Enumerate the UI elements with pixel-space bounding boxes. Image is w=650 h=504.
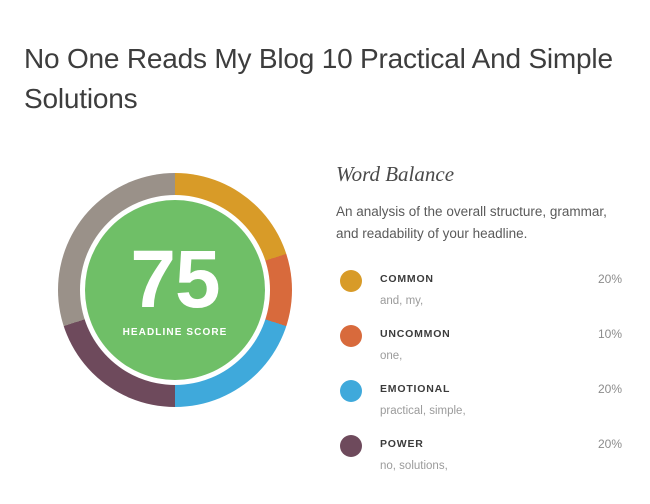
legend-percent-value: 20% — [598, 272, 622, 286]
legend-item-uncommon[interactable]: UNCOMMONone,10% — [336, 320, 626, 375]
score-center-circle: 75 HEADLINE SCORE — [85, 200, 265, 380]
legend-category-label: POWER — [380, 438, 424, 450]
legend-color-dot-icon — [340, 435, 362, 457]
headline-score-donut-chart: 75 HEADLINE SCORE — [58, 173, 292, 407]
legend-category-label: COMMON — [380, 273, 434, 285]
legend-color-dot-icon — [340, 325, 362, 347]
legend-category-label: UNCOMMON — [380, 328, 451, 340]
legend-item-power[interactable]: POWERno, solutions,20% — [336, 430, 626, 485]
legend-item-common[interactable]: COMMONand, my,20% — [336, 265, 626, 320]
legend-color-dot-icon — [340, 380, 362, 402]
panel-title: Word Balance — [336, 162, 626, 187]
legend-matched-words: practical, simple, — [380, 405, 466, 417]
legend-matched-words: and, my, — [380, 295, 423, 307]
panel-description: An analysis of the overall structure, gr… — [336, 201, 624, 245]
legend-category-label: EMOTIONAL — [380, 383, 450, 395]
legend-item-emotional[interactable]: EMOTIONALpractical, simple,20% — [336, 375, 626, 430]
score-caption: HEADLINE SCORE — [123, 327, 228, 338]
score-value: 75 — [130, 239, 219, 321]
legend-percent-value: 20% — [598, 437, 622, 451]
legend-matched-words: no, solutions, — [380, 460, 448, 472]
legend-percent-value: 10% — [598, 327, 622, 341]
legend-color-dot-icon — [340, 270, 362, 292]
legend-percent-value: 20% — [598, 382, 622, 396]
word-balance-panel: Word Balance An analysis of the overall … — [336, 162, 626, 245]
page-title: No One Reads My Blog 10 Practical And Si… — [24, 39, 624, 119]
legend-matched-words: one, — [380, 350, 402, 362]
word-balance-legend: COMMONand, my,20%UNCOMMONone,10%EMOTIONA… — [336, 265, 626, 485]
